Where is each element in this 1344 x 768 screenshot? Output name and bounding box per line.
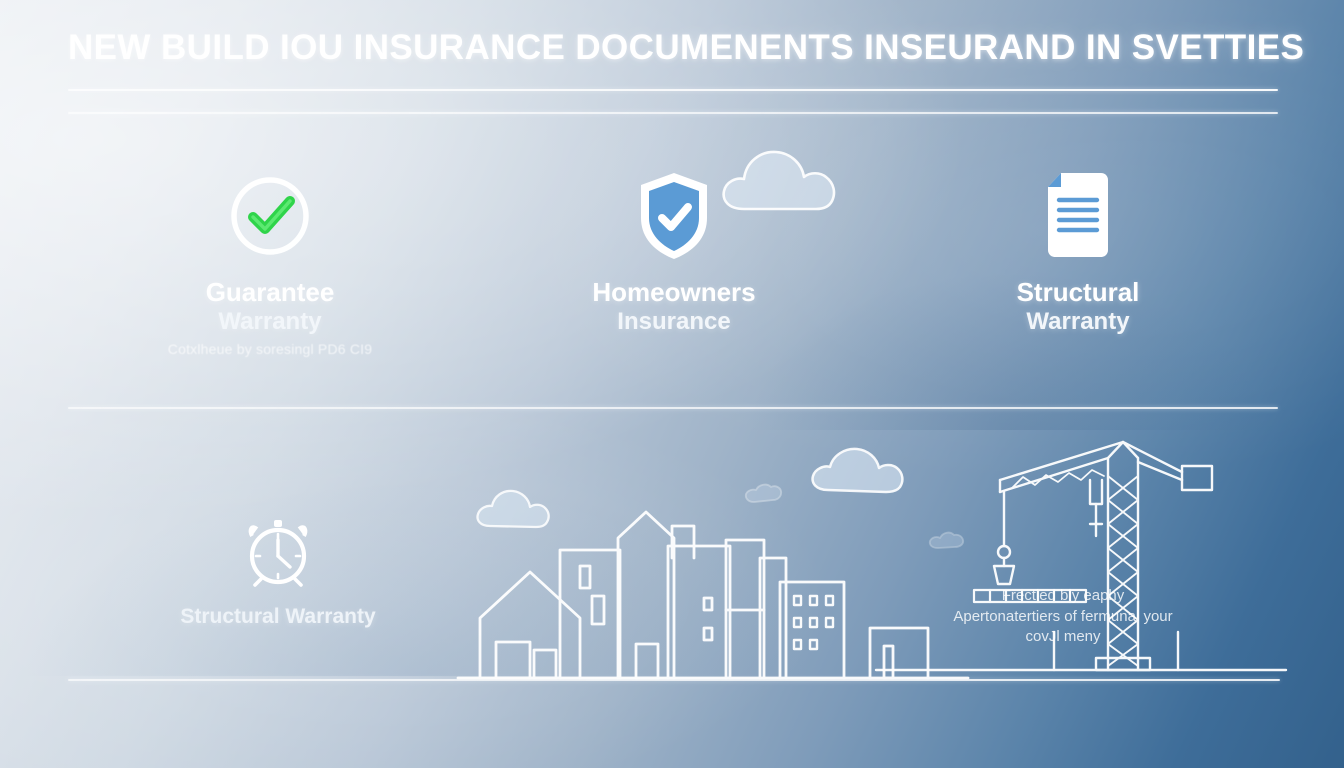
cloud-skyline-right [813,449,903,492]
card-subtitle: Warranty [1026,308,1129,337]
card-structural-warranty[interactable]: Structural Warranty [876,140,1280,390]
green-check-circle-icon [222,168,318,264]
card-guarantee-warranty[interactable]: Guarantee Warranty Cotxlheue by soresing… [68,140,472,390]
bottom-section: Structural Warranty [68,430,1280,680]
card-title: Homeowners [592,278,755,307]
bottom-left-label: Structural Warranty [180,605,375,629]
caption-line-3: covJl meny [908,627,1218,648]
card-caption: Cotxlheue by soresingl PD6 CI9 [168,341,372,357]
bottom-right-caption: Frectied bly eaphy Apertonatertiers of f… [908,586,1218,648]
section-divider [68,407,1278,409]
page-title: NEW BUILD IOU INSURANCE DOCUMENENTS INSE… [68,28,1278,68]
infographic-canvas: NEW BUILD IOU INSURANCE DOCUMENENTS INSE… [0,0,1344,768]
bottom-item-structural-warranty[interactable]: Structural Warranty [128,515,428,629]
baseline-divider [68,679,1280,681]
card-subtitle: Warranty [218,308,321,337]
cloud-small-b [930,533,963,548]
blue-shield-check-icon [626,168,722,264]
city-skyline-illustration [468,430,968,680]
cloud-small-a [746,485,781,502]
document-page-icon [1030,168,1126,264]
alarm-clock-icon [241,515,315,589]
cards-row: Guarantee Warranty Cotxlheue by soresing… [68,140,1280,390]
card-homeowners-insurance[interactable]: Homeowners Insurance [472,140,876,390]
caption-line-2: Apertonatertiers of fermunal your [908,607,1218,628]
card-title: Guarantee [206,278,335,307]
card-title: Structural [1017,278,1140,307]
caption-line-1: Frectied bly eaphy [908,586,1218,607]
cloud-skyline-left [478,491,549,527]
card-subtitle: Insurance [617,308,730,337]
title-divider-top [68,89,1278,91]
title-divider-bottom [68,112,1278,114]
